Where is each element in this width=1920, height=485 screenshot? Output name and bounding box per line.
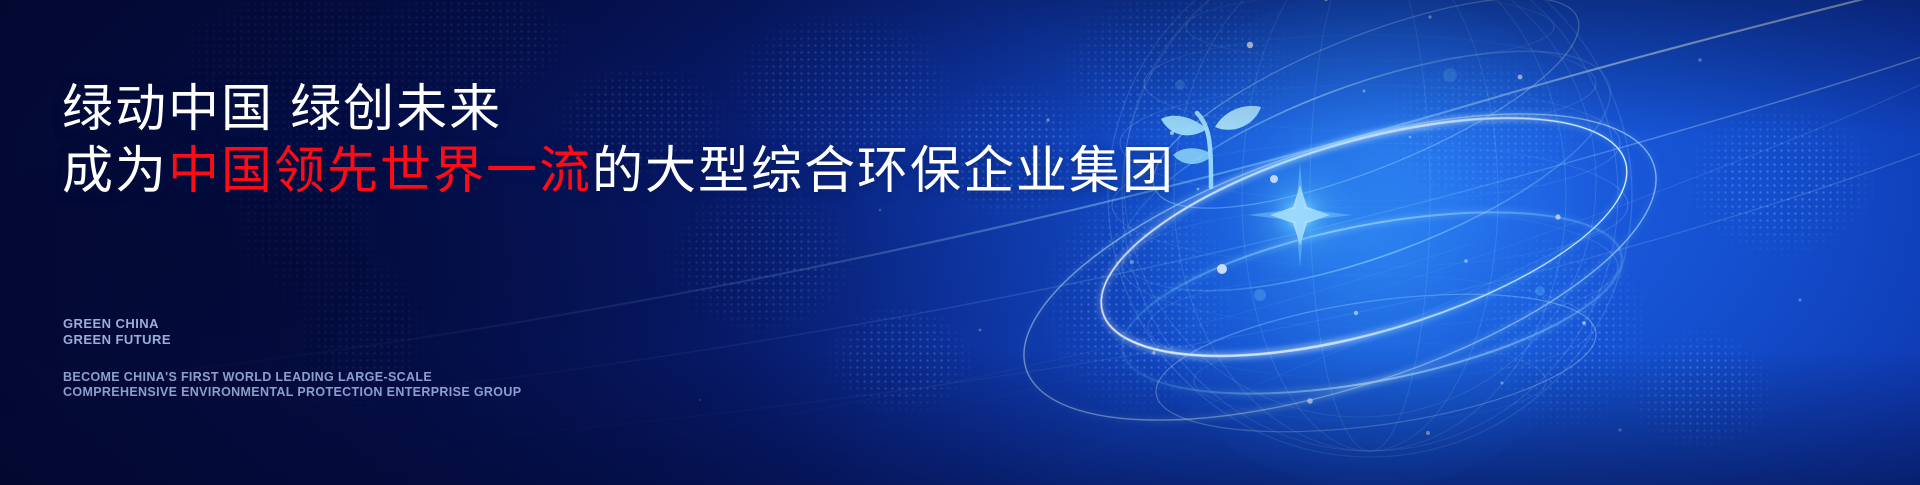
- headline-line-2-prefix: 成为: [62, 142, 168, 199]
- description-english-line-2: COMPREHENSIVE ENVIRONMENTAL PROTECTION E…: [63, 385, 521, 400]
- subtitle-english: GREEN CHINA GREEN FUTURE: [63, 316, 171, 348]
- subtitle-english-line-1: GREEN CHINA: [63, 316, 171, 332]
- description-english-line-1: BECOME CHINA'S FIRST WORLD LEADING LARGE…: [63, 370, 521, 385]
- hero-banner: 绿动中国 绿创未来 成为中国领先世界一流的大型综合环保企业集团 GREEN CH…: [0, 0, 1920, 485]
- headline-line-2-highlight: 中国领先世界一流: [168, 142, 592, 199]
- headline-line-2: 成为中国领先世界一流的大型综合环保企业集团: [62, 140, 1175, 202]
- headline-line-2-suffix: 的大型综合环保企业集团: [592, 142, 1175, 199]
- headline-line-1: 绿动中国 绿创未来: [62, 78, 1175, 140]
- headline: 绿动中国 绿创未来 成为中国领先世界一流的大型综合环保企业集团: [62, 78, 1175, 202]
- banner-content: 绿动中国 绿创未来 成为中国领先世界一流的大型综合环保企业集团 GREEN CH…: [62, 0, 1062, 485]
- description-english: BECOME CHINA'S FIRST WORLD LEADING LARGE…: [63, 370, 521, 400]
- subtitle-english-line-2: GREEN FUTURE: [63, 332, 171, 348]
